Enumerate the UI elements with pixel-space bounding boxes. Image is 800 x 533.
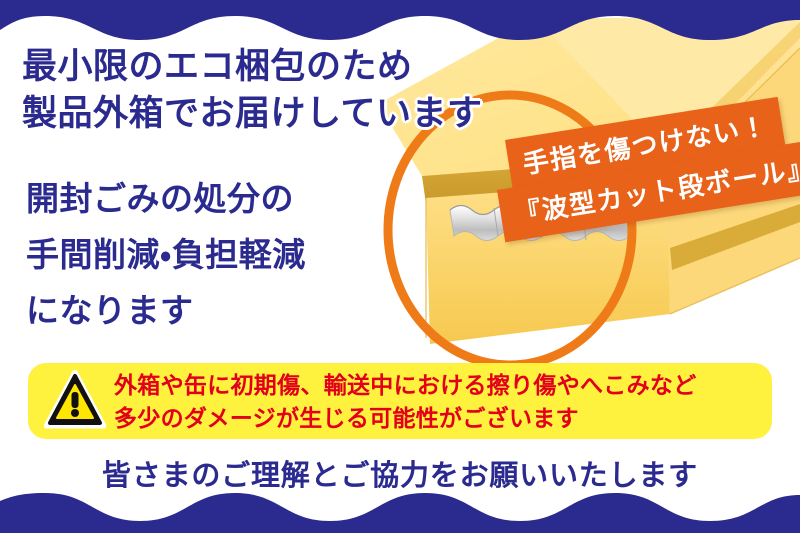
benefit-line-3: になります [26,294,194,336]
benefit-line-2: 手間削減・負担軽減 [26,238,306,280]
notice-panel: 外箱や缶に初期傷、輸送中における擦り傷やへこみなど 多少のダメージが生じる可能性… [28,363,772,439]
headline-line-1: 最小限のエコ梱包のため [22,44,542,91]
warning-triangle-icon [44,370,106,430]
notice-text: 外箱や缶に初期傷、輸送中における擦り傷やへこみなど 多少のダメージが生じる可能性… [114,369,697,434]
benefit-line-1: 開封ごみの処分の [26,182,294,224]
headline-line-2: 製品外箱でお届けしています [22,91,542,138]
benefit-block: 開封ごみの処分の 手間削減・負担軽減 になります [26,182,406,350]
notice-line-1: 外箱や缶に初期傷、輸送中における擦り傷やへこみなど [114,369,697,402]
headline: 最小限のエコ梱包のため 製品外箱でお届けしています [22,44,542,137]
promo-banner: 最小限のエコ梱包のため 製品外箱でお届けしています 開封ごみの処分の 手間削減・… [0,0,800,533]
closing-message: 皆さまのご理解とご協力をお願いいたします [0,452,800,494]
notice-line-2: 多少のダメージが生じる可能性がございます [114,402,697,435]
